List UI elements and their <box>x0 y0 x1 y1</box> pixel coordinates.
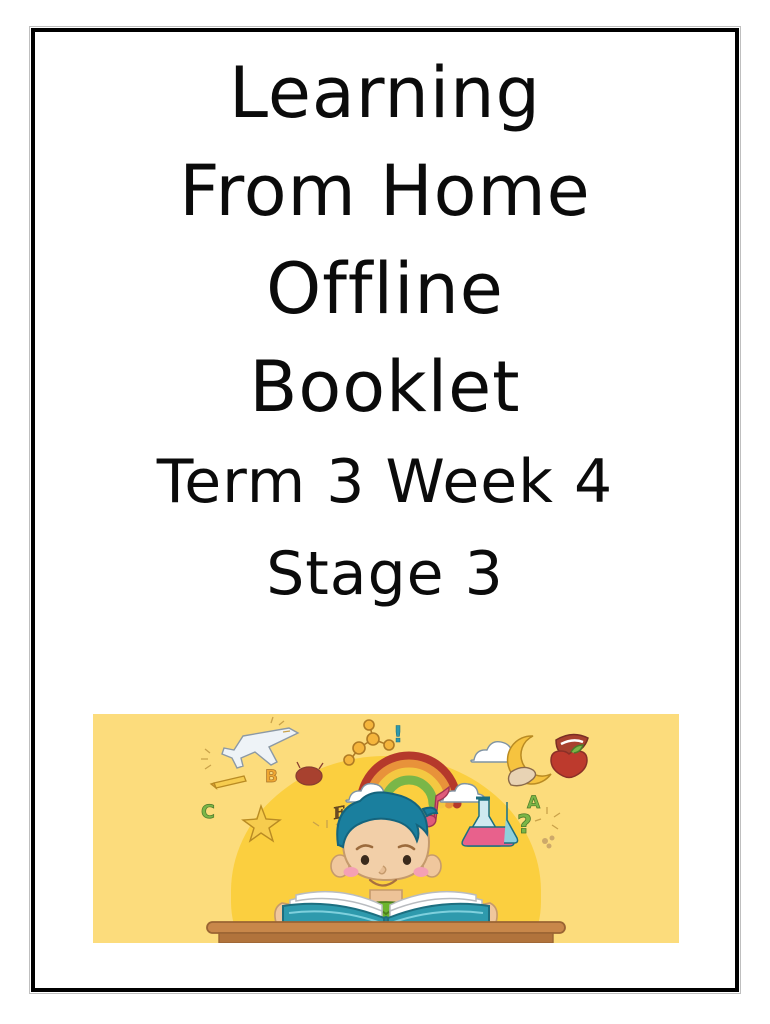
book-stack-icon <box>296 762 323 785</box>
letter-c-icon: C <box>201 801 215 823</box>
letter-a-icon: A <box>527 793 541 813</box>
title-line-stage: Stage 3 <box>35 528 735 620</box>
cover-illustration: B C ! E=mc² <box>93 714 679 943</box>
letter-b-icon: B <box>265 767 278 787</box>
airplane-icon <box>222 728 298 768</box>
flask-icon <box>462 798 517 846</box>
title-line-offline: Offline <box>35 240 735 338</box>
pencil-icon <box>211 776 246 788</box>
title-line-from-home: From Home <box>35 142 735 240</box>
title-line-booklet: Booklet <box>35 338 735 436</box>
question-mark-icon: ? <box>517 810 532 840</box>
desk <box>207 922 565 943</box>
boy-reading-book-illustration: B C ! E=mc² <box>93 714 679 943</box>
cover-title-block: Learning From Home Offline Booklet Term … <box>35 32 735 620</box>
dots-icon <box>542 836 555 849</box>
star-icon <box>243 806 280 841</box>
page-canvas: Learning From Home Offline Booklet Term … <box>0 0 770 1024</box>
exclamation-mark-icon: ! <box>393 723 403 748</box>
title-line-learning: Learning <box>35 44 735 142</box>
title-line-term-week: Term 3 Week 4 <box>35 436 735 528</box>
svg-text:?: ? <box>517 810 532 840</box>
